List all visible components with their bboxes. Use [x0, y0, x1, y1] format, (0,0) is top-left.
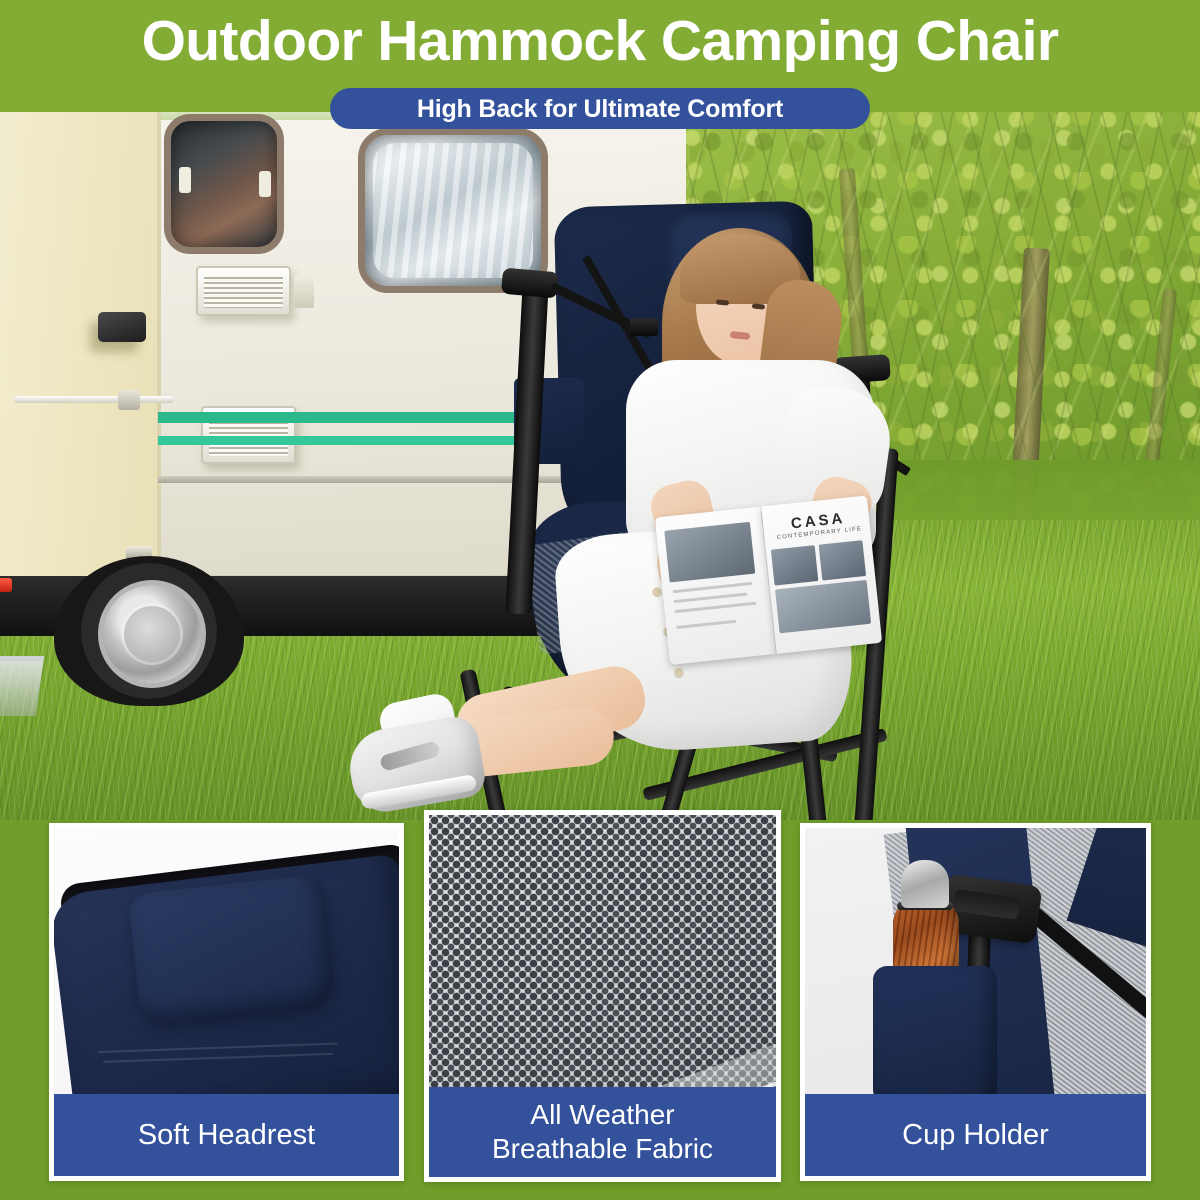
dress-button [652, 587, 662, 597]
subtitle-badge: High Back for Ultimate Comfort [330, 88, 870, 129]
product-infographic: CASA CONTEMPORARY LIFE Outdoor Hammock C… [0, 0, 1200, 1200]
feature-caption-line: Cup Holder [902, 1118, 1049, 1152]
feature-caption-line: All Weather [530, 1098, 674, 1132]
feature-panel-soft-headrest[interactable]: Soft Headrest [49, 823, 404, 1181]
rv-vent-panel [294, 276, 314, 308]
rv-door-handle [98, 312, 146, 342]
feature-caption-line: Soft Headrest [138, 1118, 315, 1152]
rv-side-marker-light [0, 578, 12, 592]
fabric-seam [98, 1043, 338, 1053]
feature-panel-breathable-fabric[interactable]: All Weather Breathable Fabric [424, 810, 781, 1182]
feature-panel-cup-holder[interactable]: Cup Holder [800, 823, 1151, 1181]
model-person: CASA CONTEMPORARY LIFE [530, 228, 930, 788]
feature-caption-line: Breathable Fabric [492, 1132, 713, 1166]
feature-caption: All Weather Breathable Fabric [429, 1087, 776, 1177]
rv-door [0, 112, 161, 578]
rv-grab-rail [14, 396, 174, 403]
rv-hubcap [98, 580, 206, 688]
hero-photo: CASA CONTEMPORARY LIFE [0, 108, 1200, 820]
rv-window [164, 114, 284, 254]
fabric-seam [103, 1053, 333, 1063]
subtitle-badge-label: High Back for Ultimate Comfort [417, 95, 783, 123]
rv-vent [196, 266, 291, 316]
magazine: CASA CONTEMPORARY LIFE [655, 495, 885, 665]
magazine-photo [771, 545, 819, 585]
feature-caption: Cup Holder [805, 1094, 1146, 1176]
magazine-photo [664, 522, 755, 583]
page-title: Outdoor Hammock Camping Chair [0, 8, 1200, 74]
dress-button [674, 668, 684, 678]
magazine-photo [819, 540, 867, 580]
rv-rail-mount [118, 390, 140, 410]
window-latch-icon [259, 171, 271, 197]
feature-caption: Soft Headrest [54, 1094, 399, 1176]
headrest-pillow [128, 874, 337, 1026]
feature-panels: Soft Headrest All Weather Breathable Fab… [0, 820, 1200, 1200]
bottle-cap [901, 860, 949, 908]
window-latch-icon [179, 167, 191, 193]
